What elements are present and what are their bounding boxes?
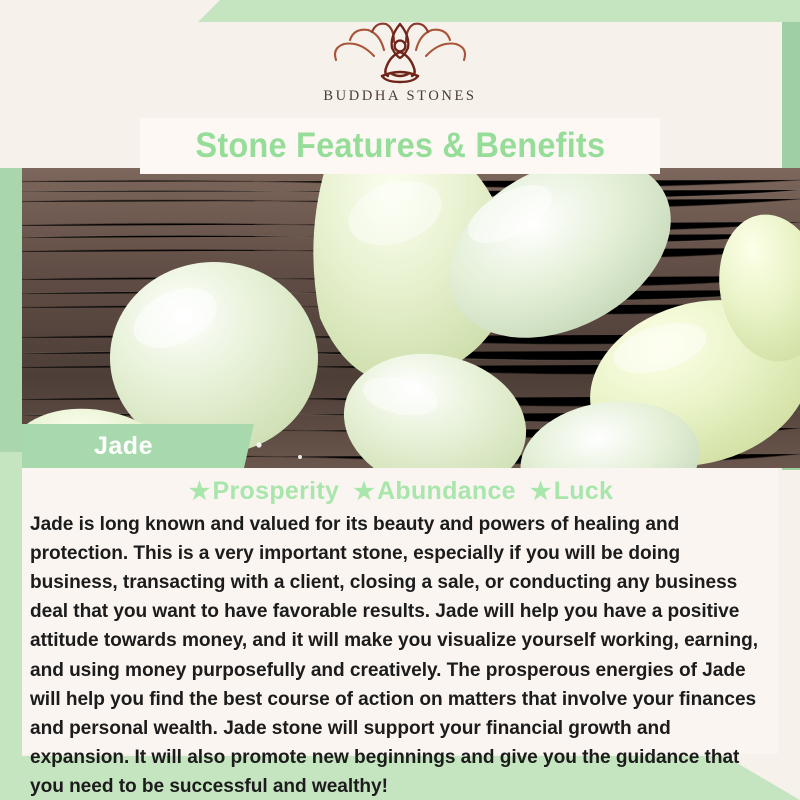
page-title: Stone Features & Benefits [195, 126, 605, 166]
stone-description: Jade is long known and valued for its be… [30, 510, 759, 800]
stone-name-label: Jade [94, 432, 153, 461]
benefit-luck: Luck [554, 477, 614, 505]
brand-name: BUDDHA STONES [323, 88, 476, 105]
content-panel: ★Prosperity★Abundance★Luck Jade is long … [22, 468, 778, 754]
brand-logo-block: BUDDHA STONES [0, 0, 800, 120]
star-icon: ★ [353, 478, 375, 505]
benefits-row: ★Prosperity★Abundance★Luck [30, 478, 770, 506]
stone-benefits-poster: BUDDHA STONES Stone Features & Benefits … [0, 0, 800, 800]
title-band: Stone Features & Benefits [140, 118, 660, 174]
frame-left-green-strip-lower [0, 452, 22, 758]
star-icon: ★ [530, 478, 552, 505]
jade-stones-photo [0, 168, 800, 468]
lotus-meditation-icon [330, 22, 470, 84]
benefit-abundance: Abundance [377, 477, 516, 505]
stone-name-band: Jade [22, 424, 254, 468]
benefit-prosperity: Prosperity [213, 477, 340, 505]
star-icon: ★ [189, 478, 211, 505]
